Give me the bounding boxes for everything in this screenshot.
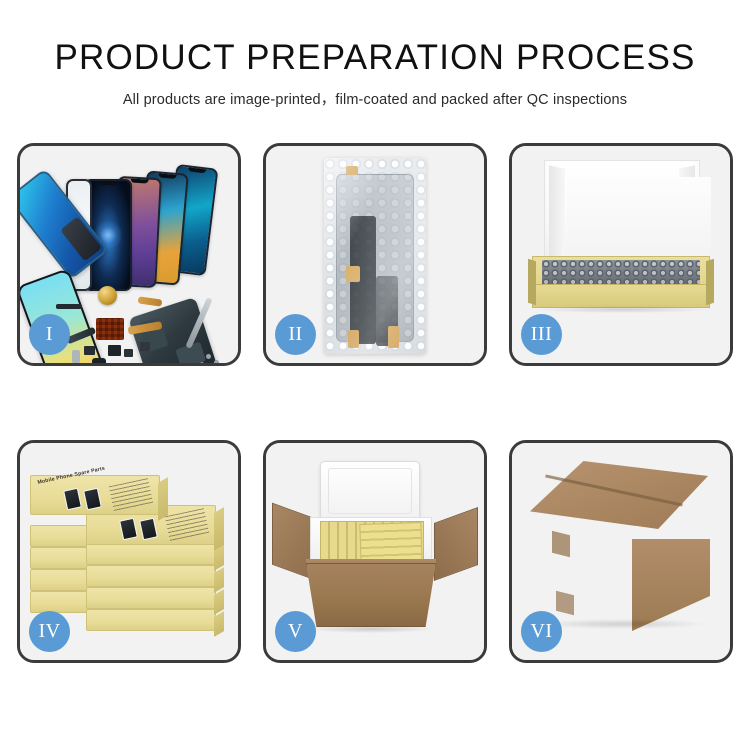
styrofoam-lid: [320, 461, 420, 523]
box-tray-left-edge: [528, 259, 536, 306]
step-badge-2: II: [275, 314, 316, 355]
bubble-wrap-bag: [324, 158, 426, 354]
copper-shield-part: [96, 318, 124, 340]
notch-icon: [99, 181, 117, 185]
step-badge-4: IV: [29, 611, 70, 652]
foam-insert: [567, 177, 711, 263]
screw-part-3: [200, 362, 204, 366]
retail-box-top-left: Mobile Phone Spare Parts: [30, 475, 160, 515]
flex-cable-part-2: [138, 296, 163, 306]
retail-box-front-3: [86, 565, 216, 587]
step-panel-5: V: [263, 440, 487, 663]
carton-left-face: [530, 517, 634, 621]
chip-part-5: [140, 342, 150, 351]
carton-right-face: [632, 539, 710, 631]
box-side: [158, 477, 168, 521]
box-tray-front: [532, 284, 710, 308]
screw-part-2: [214, 360, 219, 365]
open-yellow-box: [528, 160, 714, 326]
box-lid-left-flap: [549, 165, 565, 264]
carton-front-panel: [306, 563, 436, 627]
box-spec-text-block-left: [109, 478, 154, 512]
step-panel-6: VI: [509, 440, 733, 663]
step-panel-4: Mobile Phone Spare Parts Mobile Phone Sp…: [17, 440, 241, 663]
page-subtitle: All products are image-printed，film-coat…: [0, 88, 750, 109]
box-tray-right-edge: [706, 259, 714, 306]
adhesive-tab-4: [388, 326, 399, 348]
notch-icon: [131, 179, 149, 184]
step-panel-3: III: [509, 143, 733, 366]
chip-part-1: [84, 346, 95, 355]
box-art-phone-1: [119, 518, 138, 541]
retail-box-front-4: [86, 543, 216, 565]
camera-module-part: [92, 358, 106, 366]
step-badge-6: VI: [521, 611, 562, 652]
retail-box-label-left: Mobile Phone Spare Parts: [37, 466, 106, 486]
carton-shadow: [308, 625, 434, 633]
retail-box-front-1: [86, 609, 216, 631]
product-preparation-infographic: PRODUCT PREPARATION PROCESS All products…: [0, 0, 750, 750]
retail-box-front-2: [86, 587, 216, 609]
connector-strip-part: [56, 304, 82, 309]
carton-tape-1: [552, 531, 570, 557]
notch-icon: [158, 173, 176, 179]
box-lid-white: [544, 160, 700, 268]
box-art-phone-2: [83, 488, 102, 511]
header: PRODUCT PREPARATION PROCESS All products…: [0, 0, 750, 109]
chip-part-2: [108, 345, 121, 356]
box-side: [214, 507, 224, 551]
speaker-coil-part: [98, 286, 117, 305]
step-panel-2: II: [263, 143, 487, 366]
notch-icon: [188, 167, 206, 173]
adhesive-tab-3: [348, 330, 359, 348]
screw-part-1: [206, 354, 211, 359]
sealed-shipping-carton: [528, 461, 714, 633]
adhesive-tab-2: [346, 266, 360, 282]
carton-flap-right: [434, 507, 478, 581]
step-panel-1: I: [17, 143, 241, 366]
chip-part-4: [72, 350, 80, 363]
step-badge-3: III: [521, 314, 562, 355]
box-shadow: [536, 306, 708, 313]
carton-tape-2: [556, 591, 574, 615]
steps-grid: I II: [17, 143, 733, 663]
box-spec-text-block-right: [165, 508, 210, 542]
box-art-phone-1: [63, 488, 82, 511]
page-title: PRODUCT PREPARATION PROCESS: [0, 40, 750, 77]
box-side: [214, 611, 224, 637]
carton-shadow: [538, 619, 706, 629]
adhesive-tab-1: [346, 166, 358, 175]
step-badge-1: I: [29, 314, 70, 355]
step-badge-5: V: [275, 611, 316, 652]
box-art-phone-2: [139, 518, 158, 541]
chip-part-3: [124, 349, 133, 357]
carton-top-face: [530, 461, 708, 529]
